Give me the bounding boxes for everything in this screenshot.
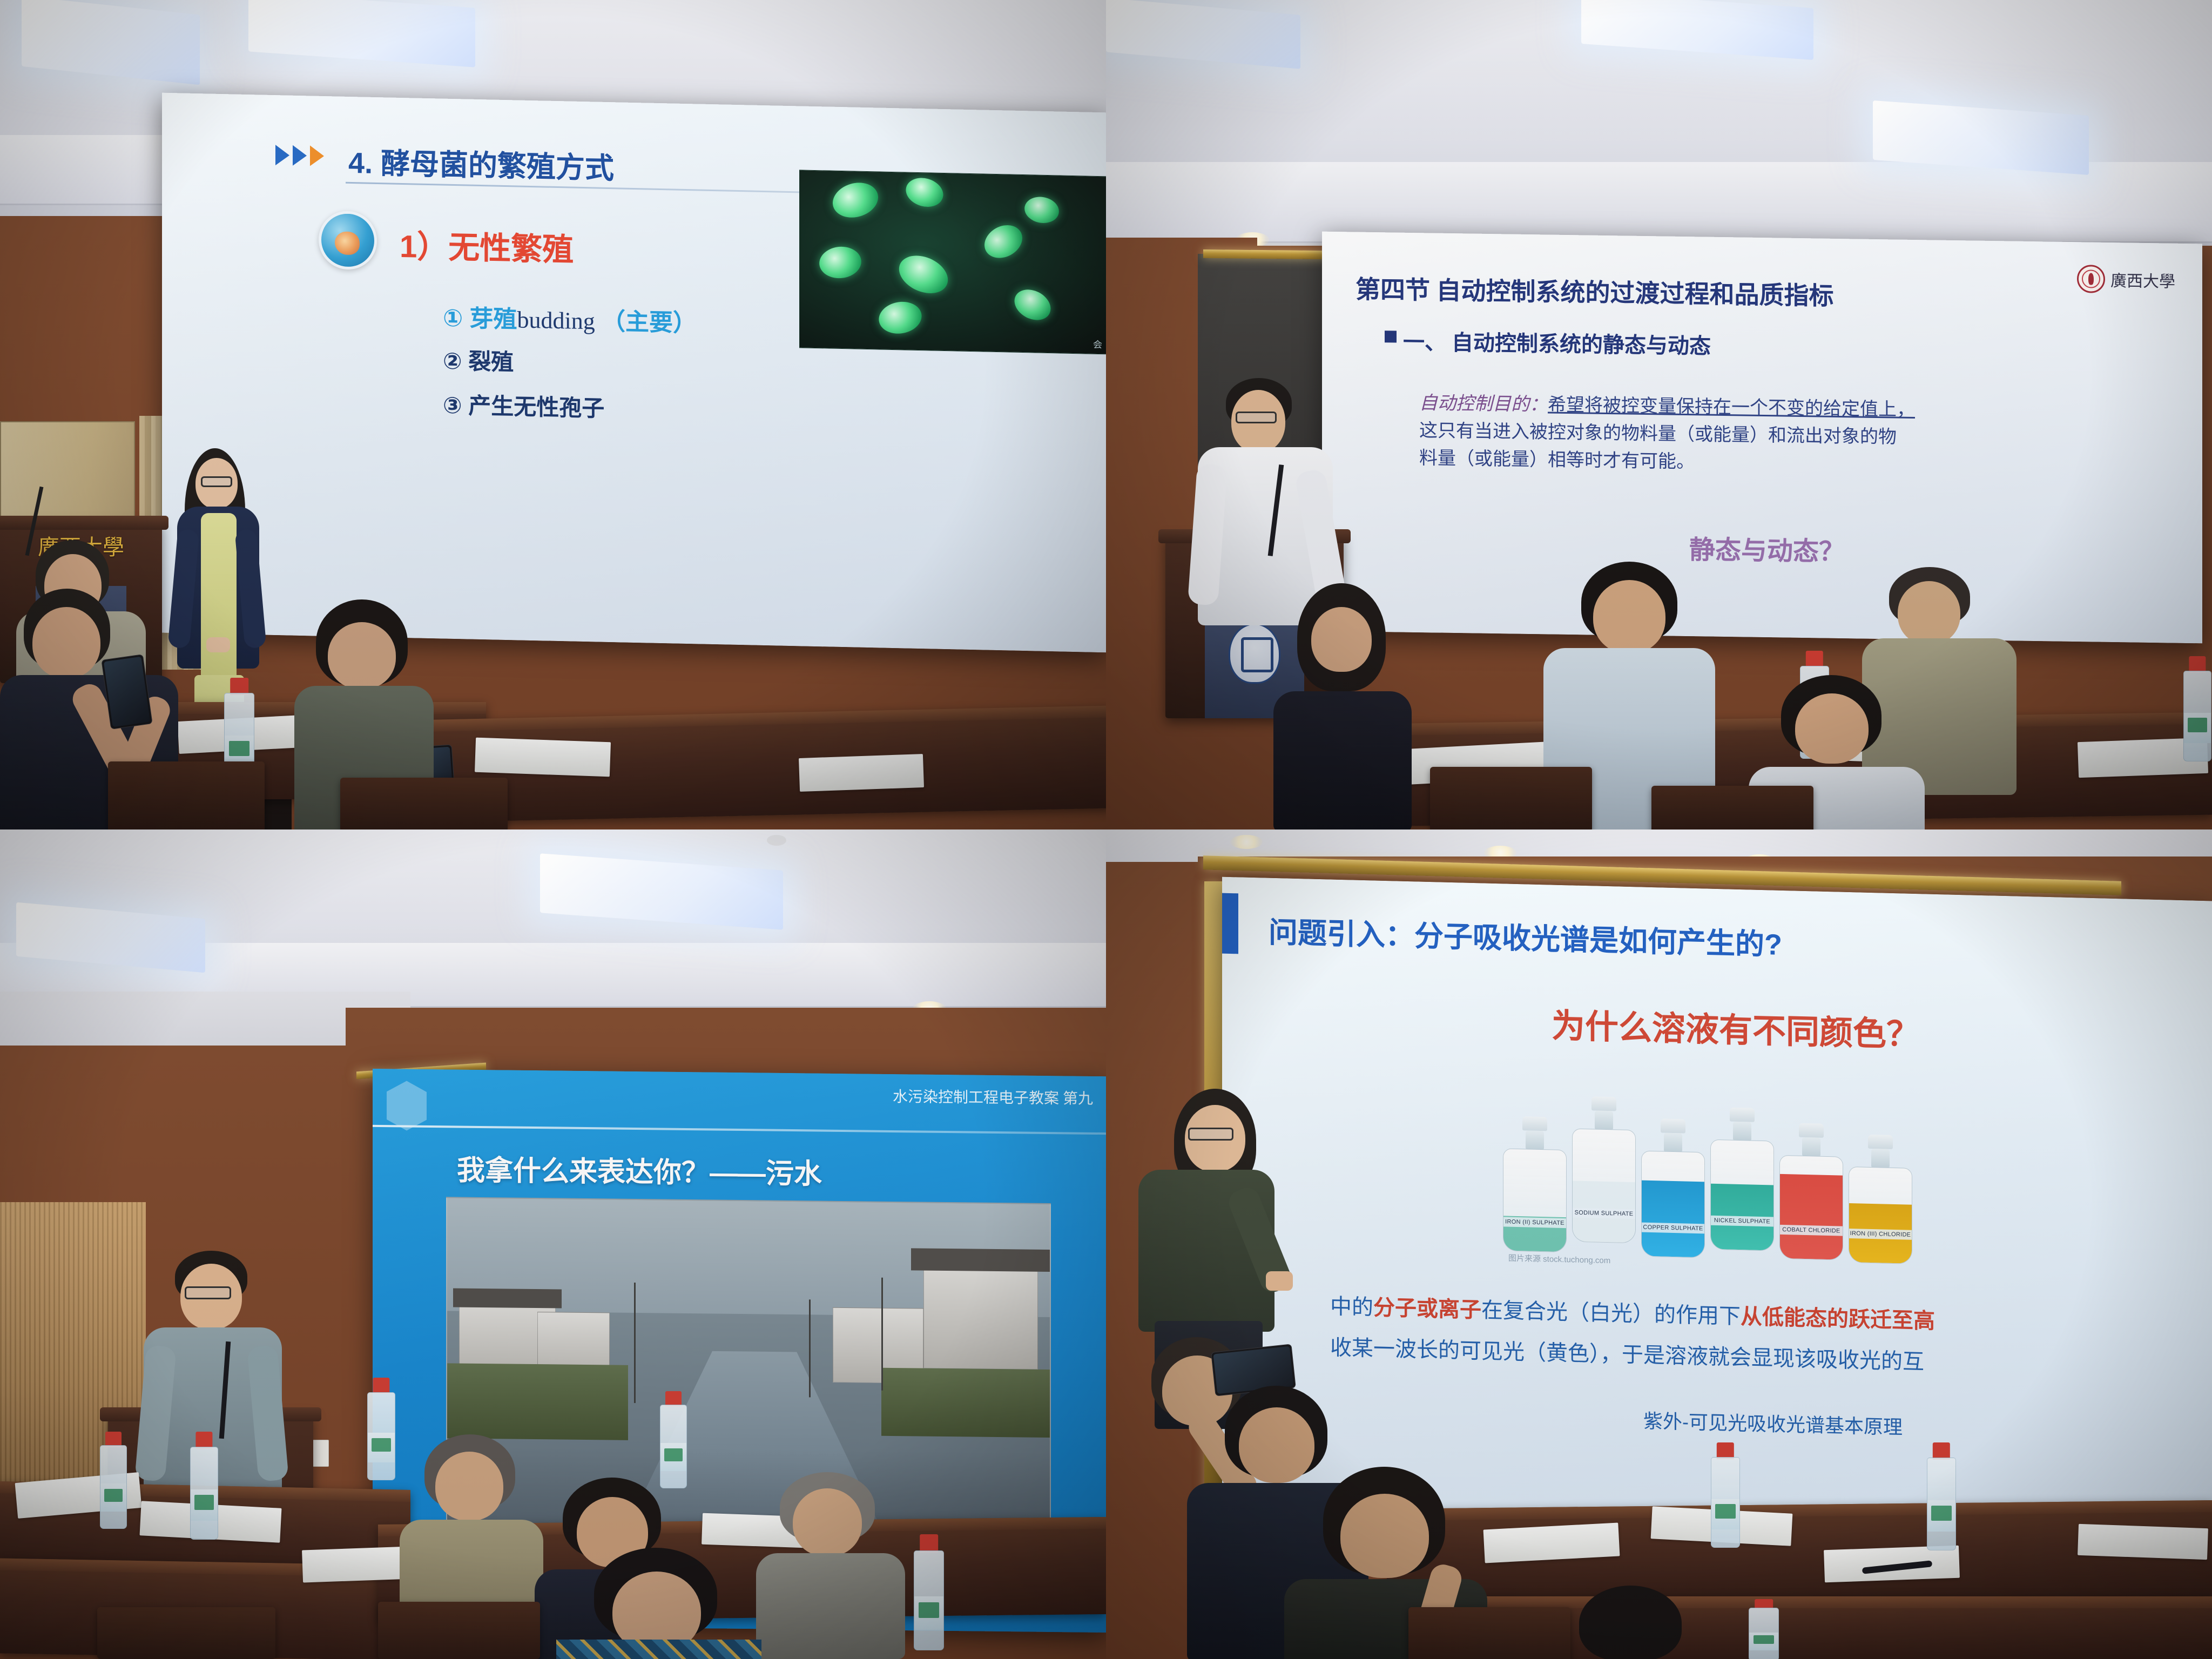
bullet-cn-3: 产生无性孢子 [468, 393, 604, 421]
bottle-label-6: IRON (III) CHLORIDE [1849, 1229, 1912, 1240]
slide1-bullet-2: ② 裂殖 [443, 343, 514, 377]
cell-illustration-icon [319, 211, 377, 270]
audience-member-front [556, 1548, 761, 1659]
panel-bottom-left: 水污染控制工程电子教案 第九 我拿什么来表达你？——污水 [0, 829, 1106, 1659]
slide3-header: 水污染控制工程电子教案 第九 [893, 1085, 1093, 1109]
audience-member [1549, 1586, 1711, 1659]
bottle-label-4: NICKEL SULPHATE [1710, 1216, 1774, 1227]
audience-member [756, 1472, 907, 1656]
smartphone[interactable] [101, 654, 152, 730]
slide2-section: 一、 自动控制系统的静态与动态 [1403, 325, 1711, 360]
title-accent-bar [1222, 893, 1238, 954]
slide2-body: 自动控制目的：希望将被控变量保持在一个不变的给定值上， 这只有当进入被控对象的物… [1419, 389, 2132, 482]
panel-top-left: 4. 酵母菌的繁殖方式 1）无性繁殖 ① 芽殖budding （主要） ② 裂殖… [0, 0, 1106, 829]
body-lead: 自动控制目的： [1419, 393, 1548, 415]
water-bottle [1711, 1442, 1740, 1548]
para-a: 中的 [1330, 1294, 1373, 1319]
water-bottle [190, 1432, 218, 1540]
bottle-5: COBALT CHLORIDE [1779, 1123, 1843, 1260]
slide4-paragraph-line1: 中的分子或离子在复合光（白光）的作用下从低能态的跃迁至高 [1330, 1290, 1935, 1338]
bullet-marker-3: ③ [443, 393, 462, 419]
panel-top-right: 第四节 自动控制系统的过渡过程和品质指标 廣西大學 一、 自动控制系统的静态与动… [1106, 0, 2212, 829]
yeast-micrograph: 会 [799, 170, 1106, 354]
bullet-suffix-1: （主要） [602, 308, 697, 337]
image-credit: 图片来源 stock.tuchong.com [1508, 1252, 1610, 1266]
water-bottle [1749, 1599, 1779, 1659]
photo-collage: 4. 酵母菌的繁殖方式 1）无性繁殖 ① 芽殖budding （主要） ② 裂殖… [0, 0, 2212, 1659]
bullet-en-1: budding [517, 306, 595, 334]
water-bottle [2183, 656, 2211, 761]
slide-yeast-reproduction: 4. 酵母菌的繁殖方式 1）无性繁殖 ① 芽殖budding （主要） ② 裂殖… [162, 93, 1106, 653]
bottle-label-3: COPPER SULPHATE [1641, 1222, 1705, 1233]
bottle-6: IRON (III) CHLORIDE [1849, 1134, 1912, 1264]
para-red1: 分子或离子 [1373, 1296, 1481, 1322]
body-line3: 料量（或能量）相等时才有可能。 [1419, 448, 1695, 472]
bullet-cn-1: 芽殖 [470, 306, 517, 333]
projection-screen-1: 4. 酵母菌的繁殖方式 1）无性繁殖 ① 芽殖budding （主要） ② 裂殖… [162, 93, 1106, 653]
body-line1: 希望将被控变量保持在一个不变的给定值上， [1548, 395, 1915, 420]
slide-automatic-control: 第四节 自动控制系统的过渡过程和品质指标 廣西大學 一、 自动控制系统的静态与动… [1322, 232, 2202, 644]
para-red2: 从低能态的跃迁至高 [1741, 1305, 1935, 1333]
para-b: 在复合光（白光）的作用下 [1481, 1298, 1741, 1328]
slide4-subtitle: 为什么溶液有不同颜色？ [1552, 999, 1920, 1056]
micrograph-caption: 会 [1093, 337, 1102, 350]
school-emblem-icon [387, 1081, 427, 1131]
bottle-label-2: SODIUM SULPHATE [1572, 1208, 1636, 1219]
university-logo: 廣西大學 [2077, 265, 2175, 294]
university-logo-text: 廣西大學 [2110, 267, 2175, 292]
chevron-bullet-icon [275, 145, 324, 166]
bottle-3: COPPER SULPHATE [1641, 1118, 1705, 1258]
bullet-marker-1: ① [443, 305, 463, 332]
audience-member [1273, 583, 1414, 829]
body-line2: 这只有当进入被控对象的物料量（或能量）和流出对象的物 [1419, 421, 1897, 447]
slide2-title: 第四节 自动控制系统的过渡过程和品质指标 [1355, 269, 1834, 312]
slide4-paragraph-line2: 收某一波长的可见光（黄色），于是溶液就会显现该吸收光的互 [1330, 1331, 1924, 1379]
bottle-2: SODIUM SULPHATE [1572, 1096, 1636, 1243]
slide1-title: 4. 酵母菌的繁殖方式 [348, 139, 614, 187]
bottle-4: NICKEL SULPHATE [1710, 1107, 1774, 1251]
water-bottle [100, 1432, 127, 1529]
slide3-title: 我拿什么来表达你？——污水 [457, 1148, 822, 1192]
reagent-bottles-photo: IRON (II) SULPHATE SODIUM SULPHATE [1503, 1094, 1912, 1264]
slide4-title: 问题引入：分子吸收光谱是如何产生的? [1269, 908, 1782, 963]
panel-bottom-right: 问题引入：分子吸收光谱是如何产生的? 为什么溶液有不同颜色？ IRON (II)… [1106, 829, 2212, 1659]
bottle-label-1: IRON (II) SULPHATE [1503, 1217, 1567, 1228]
water-bottle [367, 1378, 395, 1480]
projection-screen-2: 第四节 自动控制系统的过渡过程和品质指标 廣西大學 一、 自动控制系统的静态与动… [1322, 232, 2202, 644]
bottle-label-5: COBALT CHLORIDE [1779, 1225, 1843, 1236]
water-bottle [914, 1534, 944, 1650]
water-bottle [660, 1391, 687, 1488]
university-seal-icon [2077, 265, 2105, 293]
water-bottle [1927, 1442, 1956, 1550]
slide1-bullet-3: ③ 产生无性孢子 [443, 387, 604, 423]
bottle-1: IRON (II) SULPHATE [1503, 1116, 1567, 1252]
bullet-cn-2: 裂殖 [468, 349, 514, 375]
slide4-footer: 紫外-可见光吸收光谱基本原理 [1643, 1406, 1903, 1440]
bullet-marker-2: ② [443, 348, 462, 374]
slide1-heading: 1）无性繁殖 [400, 221, 574, 270]
slide1-bullet-1: ① 芽殖budding （主要） [443, 299, 697, 339]
